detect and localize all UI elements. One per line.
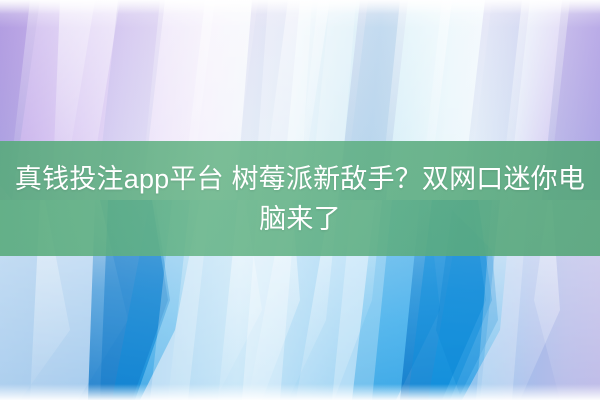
banner-image-stage: 真钱投注app平台 树莓派新敌手？双网口迷你电脑来了 xyxy=(0,0,600,400)
title-banner: 真钱投注app平台 树莓派新敌手？双网口迷你电脑来了 xyxy=(0,141,600,256)
banner-title-text: 真钱投注app平台 树莓派新敌手？双网口迷你电脑来了 xyxy=(4,159,596,239)
